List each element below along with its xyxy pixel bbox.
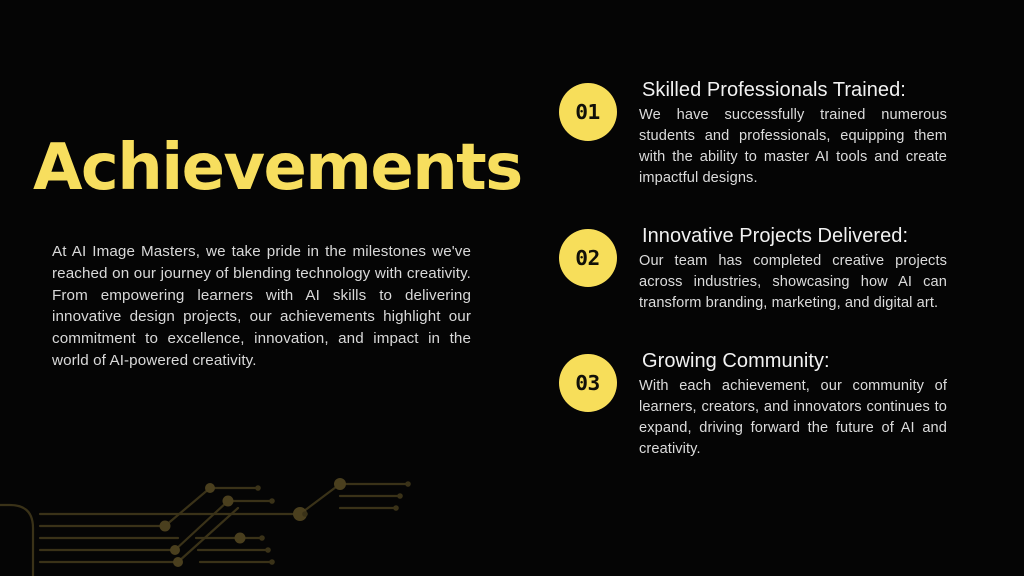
intro-paragraph: At AI Image Masters, we take pride in th… bbox=[52, 241, 471, 372]
page-title: Achievements bbox=[33, 136, 503, 200]
number-badge-01: 01 bbox=[559, 83, 617, 141]
number-badge-03: 03 bbox=[559, 354, 617, 412]
list-item-body: Skilled Professionals Trained: We have s… bbox=[639, 78, 947, 189]
list-item-title: Skilled Professionals Trained: bbox=[642, 78, 947, 102]
list-item-text: We have successfully trained numerous st… bbox=[639, 105, 947, 189]
badge-number-label: 03 bbox=[576, 371, 600, 395]
badge-number-label: 01 bbox=[576, 100, 600, 124]
badge-number-label: 02 bbox=[576, 246, 600, 270]
slide-root: Achievements At AI Image Masters, we tak… bbox=[0, 0, 1024, 576]
list-item-body: Growing Community: With each achievement… bbox=[639, 349, 947, 460]
list-item-title: Innovative Projects Delivered: bbox=[642, 224, 947, 248]
list-item: 02 Innovative Projects Delivered: Our te… bbox=[559, 224, 949, 314]
list-item-title: Growing Community: bbox=[642, 349, 947, 373]
list-item-text: Our team has completed creative projects… bbox=[639, 251, 947, 314]
left-content-column: Achievements At AI Image Masters, we tak… bbox=[33, 136, 503, 372]
number-badge-02: 02 bbox=[559, 229, 617, 287]
achievements-list: 01 Skilled Professionals Trained: We hav… bbox=[559, 78, 949, 460]
list-item-body: Innovative Projects Delivered: Our team … bbox=[639, 224, 947, 314]
list-item-text: With each achievement, our community of … bbox=[639, 376, 947, 460]
circuit-board-pattern-icon bbox=[0, 466, 430, 576]
list-item: 03 Growing Community: With each achievem… bbox=[559, 349, 949, 460]
list-item: 01 Skilled Professionals Trained: We hav… bbox=[559, 78, 949, 189]
